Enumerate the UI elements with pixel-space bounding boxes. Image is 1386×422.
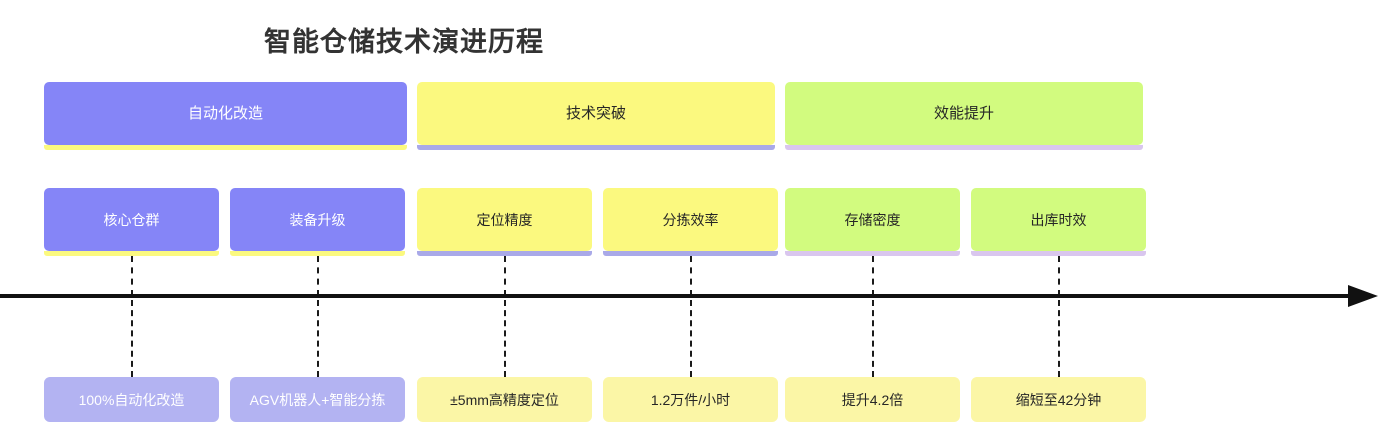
page-title: 智能仓储技术演进历程 (264, 20, 544, 59)
connector-line-upper (504, 256, 506, 296)
value-box-label: 缩短至42分钟 (1016, 393, 1102, 407)
phase-bar[interactable]: 技术突破 (417, 82, 775, 145)
phase-bar-shadow (785, 145, 1143, 150)
connector-line-upper (690, 256, 692, 296)
phase-bar-label: 效能提升 (934, 106, 994, 121)
value-box-label: ±5mm高精度定位 (450, 393, 559, 407)
value-box[interactable]: ±5mm高精度定位 (417, 377, 592, 422)
connector-line-lower (504, 300, 506, 377)
metric-box[interactable]: 核心仓群 (44, 188, 219, 251)
metric-box[interactable]: 出库时效 (971, 188, 1146, 251)
connector-line-lower (872, 300, 874, 377)
connector-line-upper (317, 256, 319, 296)
value-box[interactable]: 缩短至42分钟 (971, 377, 1146, 422)
phase-bar-label: 技术突破 (566, 106, 626, 121)
value-box[interactable]: 提升4.2倍 (785, 377, 960, 422)
value-box-label: 1.2万件/小时 (651, 393, 730, 407)
value-box-label: 提升4.2倍 (842, 393, 903, 407)
connector-line-lower (131, 300, 133, 377)
value-box[interactable]: 1.2万件/小时 (603, 377, 778, 422)
metric-box-label: 装备升级 (290, 213, 346, 227)
connector-line-lower (1058, 300, 1060, 377)
metric-box[interactable]: 存储密度 (785, 188, 960, 251)
phase-bar[interactable]: 自动化改造 (44, 82, 407, 145)
metric-box-label: 定位精度 (477, 213, 533, 227)
metric-box-label: 出库时效 (1031, 213, 1087, 227)
phase-bar-label: 自动化改造 (188, 106, 263, 121)
phase-bar-shadow (44, 145, 407, 150)
connector-line-upper (872, 256, 874, 296)
connector-line-upper (131, 256, 133, 296)
metric-box[interactable]: 装备升级 (230, 188, 405, 251)
timeline-axis (0, 294, 1352, 298)
value-box-label: 100%自动化改造 (79, 393, 185, 407)
phase-bar[interactable]: 效能提升 (785, 82, 1143, 145)
connector-line-lower (317, 300, 319, 377)
timeline-diagram: 智能仓储技术演进历程 自动化改造技术突破效能提升 核心仓群装备升级定位精度分拣效… (0, 0, 1386, 418)
metric-box-label: 分拣效率 (663, 213, 719, 227)
metric-box-label: 核心仓群 (104, 213, 160, 227)
value-box[interactable]: 100%自动化改造 (44, 377, 219, 422)
timeline-arrow-icon (1348, 285, 1378, 307)
metric-box-label: 存储密度 (845, 213, 901, 227)
connector-line-upper (1058, 256, 1060, 296)
value-box-label: AGV机器人+智能分拣 (250, 393, 386, 407)
value-box[interactable]: AGV机器人+智能分拣 (230, 377, 405, 422)
connector-line-lower (690, 300, 692, 377)
metric-box[interactable]: 定位精度 (417, 188, 592, 251)
phase-bar-shadow (417, 145, 775, 150)
metric-box[interactable]: 分拣效率 (603, 188, 778, 251)
